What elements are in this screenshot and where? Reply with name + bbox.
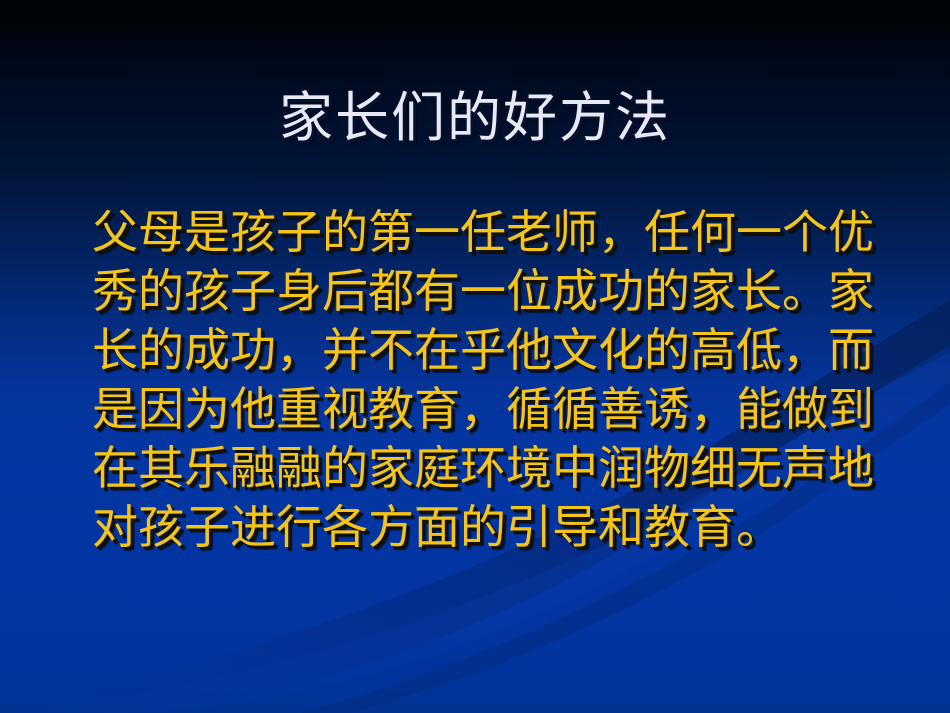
slide-body: 父母是孩子的第一任老师，任何一个优秀的孩子身后都有一位成功的家长。家长的成功，并… [92,203,912,557]
slide-canvas: 家长们的好方法 父母是孩子的第一任老师，任何一个优秀的孩子身后都有一位成功的家长… [0,0,950,713]
body-paragraph: 父母是孩子的第一任老师，任何一个优秀的孩子身后都有一位成功的家长。家长的成功，并… [92,203,912,557]
slide-title: 家长们的好方法 [0,86,950,150]
